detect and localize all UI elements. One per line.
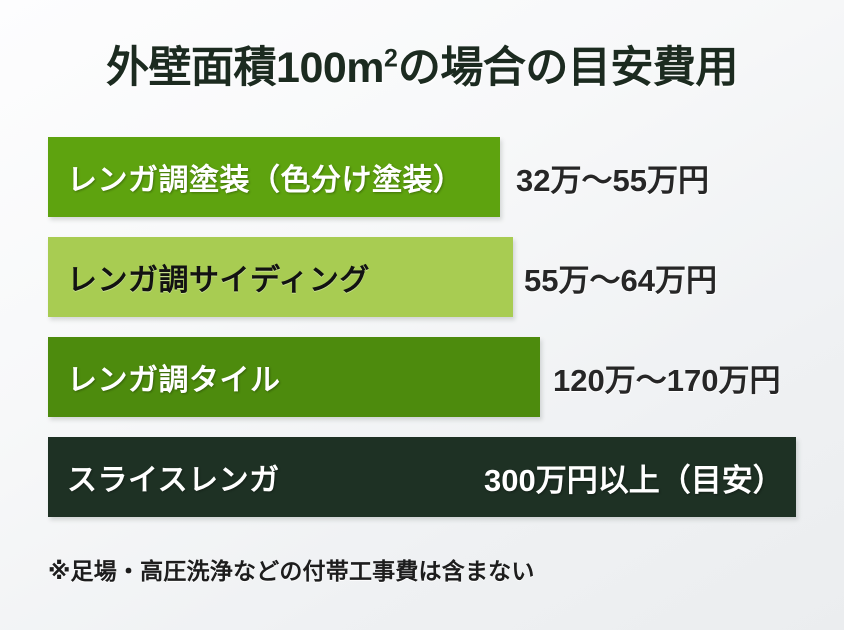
cost-bar-label-3: レンガ調タイル: [48, 355, 281, 399]
cost-bar-label-4: スライスレンガ: [48, 455, 280, 499]
cost-price-1: 32万〜55万円: [516, 137, 709, 217]
cost-estimate-infographic: 外壁面積100m2の場合の目安費用 レンガ調塗装（色分け塗装） 32万〜55万円…: [0, 0, 844, 630]
cost-price-4: 300万円以上（目安）: [484, 437, 784, 517]
table-row: レンガ調塗装（色分け塗装） 32万〜55万円: [0, 137, 844, 217]
cost-bar-1: レンガ調塗装（色分け塗装）: [48, 137, 500, 217]
title-superscript: 2: [384, 45, 398, 73]
cost-bar-label-2: レンガ調サイディング: [48, 255, 370, 299]
table-row: レンガ調タイル 120万〜170万円: [0, 337, 844, 417]
cost-bar-4: スライスレンガ 300万円以上（目安）: [48, 437, 796, 517]
table-row: レンガ調サイディング 55万〜64万円: [0, 237, 844, 317]
table-row: スライスレンガ 300万円以上（目安）: [0, 437, 844, 517]
page-title: 外壁面積100m2の場合の目安費用: [0, 44, 844, 92]
cost-bar-label-1: レンガ調塗装（色分け塗装）: [48, 155, 464, 199]
cost-rows: レンガ調塗装（色分け塗装） 32万〜55万円 レンガ調サイディング 55万〜64…: [0, 137, 844, 517]
title-prefix: 外壁面積100m: [106, 44, 384, 92]
title-suffix: の場合の目安費用: [398, 44, 738, 92]
cost-bar-2: レンガ調サイディング: [48, 237, 513, 317]
cost-bar-3: レンガ調タイル: [48, 337, 540, 417]
cost-price-2: 55万〜64万円: [524, 237, 717, 317]
footnote-text: ※足場・高圧洗浄などの付帯工事費は含まない: [48, 552, 535, 586]
cost-price-3: 120万〜170万円: [553, 337, 780, 417]
